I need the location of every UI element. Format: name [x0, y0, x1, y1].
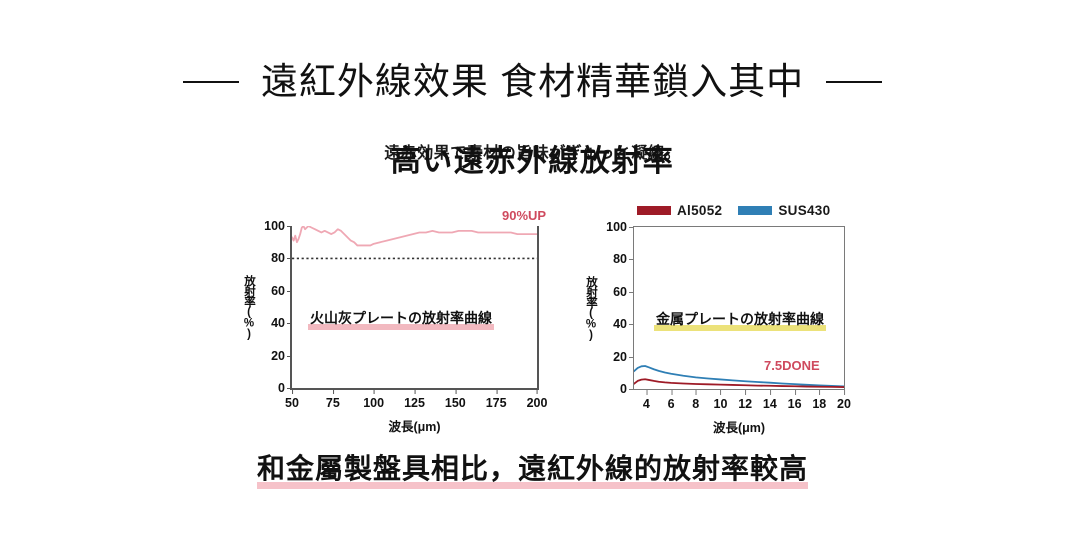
plot-area-left: 放射率(%) 波長(μm) 020406080100 5075100125150…: [290, 226, 539, 390]
x-tick-label: 50: [285, 396, 299, 410]
x-tick-label: 12: [738, 397, 752, 411]
legend-item[interactable]: SUS430: [738, 203, 830, 218]
x-tick-label: 4: [643, 397, 650, 411]
x-tick-label: 18: [812, 397, 826, 411]
y-tick-label: 40: [613, 317, 627, 331]
legend-swatch-icon: [637, 206, 671, 215]
legend-label: SUS430: [778, 203, 830, 218]
legend-label: Al5052: [677, 203, 722, 218]
section-title: 高い遠赤外線放射率: [0, 136, 1065, 180]
y-axis-title-left: 放射率(%): [243, 275, 255, 340]
badge-7-5-done: 7.5DONE: [762, 358, 822, 376]
x-tick-label: 75: [326, 396, 340, 410]
footer-caption: 和金屬製盤具相比，遠紅外線的放射率較高: [0, 447, 1065, 489]
y-tick-label: 60: [271, 284, 285, 298]
x-tick-label: 100: [363, 396, 384, 410]
title-row: 遠紅外線效果 食材精華鎖入其中: [0, 36, 1065, 128]
badge-90-percent-up: 90%UP: [502, 208, 546, 223]
x-tick-label: 16: [788, 397, 802, 411]
x-axis-title-right: 波長(μm): [713, 417, 765, 436]
plot-area-right: 放射率(%) 波長(μm) 020406080100 4681012141618…: [633, 226, 845, 390]
y-tick-label: 40: [271, 316, 285, 330]
y-tick-label: 60: [613, 285, 627, 299]
chart-metal-plate: Al5052SUS430 放射率(%) 波長(μm) 020406080100 …: [575, 200, 860, 440]
horizontal-rule-icon-right: [826, 81, 882, 83]
plot-svg-left: [292, 226, 537, 388]
chart-volcanic-ash-plate: 90%UP 放射率(%) 波長(μm) 020406080100 5075100…: [228, 200, 568, 440]
x-tick-label: 175: [486, 396, 507, 410]
y-tick-label: 20: [613, 350, 627, 364]
x-axis-title-left: 波長(μm): [388, 416, 440, 435]
x-tick-label: 125: [404, 396, 425, 410]
y-tick-label: 80: [613, 252, 627, 266]
horizontal-rule-icon-left: [183, 81, 239, 83]
y-tick-label: 20: [271, 349, 285, 363]
x-tick-label: 200: [527, 396, 548, 410]
y-tick-label: 100: [264, 219, 285, 233]
y-tick-label: 0: [278, 381, 285, 395]
series-line-volcanic-ash: [292, 226, 537, 245]
footer-caption-text: 和金屬製盤具相比，遠紅外線的放射率較高: [257, 447, 808, 489]
chart-legend: Al5052SUS430: [637, 203, 830, 218]
legend-swatch-icon: [738, 206, 772, 215]
plot-annotation-right: 金属プレートの放射率曲線: [654, 311, 826, 331]
page-title: 遠紅外線效果 食材精華鎖入其中: [261, 61, 804, 104]
x-tick-label: 150: [445, 396, 466, 410]
y-tick-label: 0: [620, 382, 627, 396]
x-tick-label: 8: [692, 397, 699, 411]
x-tick-label: 20: [837, 397, 851, 411]
x-tick-label: 6: [668, 397, 675, 411]
y-tick-label: 80: [271, 251, 285, 265]
y-axis-title-right: 放射率(%): [585, 276, 597, 341]
x-tick-label: 14: [763, 397, 777, 411]
plot-annotation-left: 火山灰プレートの放射率曲線: [308, 310, 494, 330]
y-tick-label: 100: [606, 220, 627, 234]
legend-item[interactable]: Al5052: [637, 203, 722, 218]
charts-area: 90%UP 放射率(%) 波長(μm) 020406080100 5075100…: [0, 200, 1065, 440]
x-tick-label: 10: [714, 397, 728, 411]
